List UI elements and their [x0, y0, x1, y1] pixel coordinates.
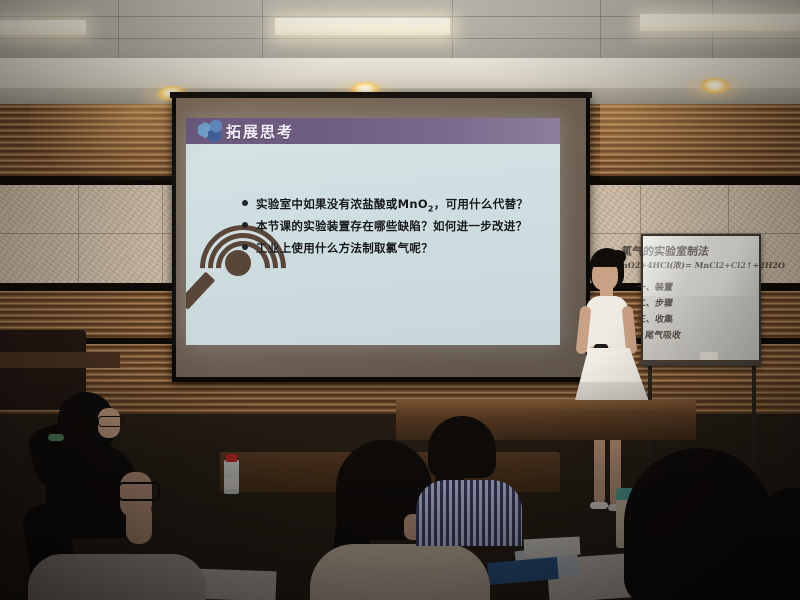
bullet-dot-icon [242, 244, 248, 250]
stone-seam-vertical [162, 185, 163, 285]
magnifier-radar-icon [196, 224, 292, 324]
projected-slide: 拓展思考 实验室中如果没有浓盐酸或MnO2，可用什么代替？ 本节课的实验装置存在… [186, 118, 560, 345]
student-hair [762, 488, 800, 600]
bullet-text-post: ，可用什么代替？ [434, 197, 528, 211]
slide-title: 拓展思考 [226, 121, 294, 142]
ceiling-grid-line [712, 0, 713, 62]
screen-mount-bar [170, 92, 592, 98]
stone-seam-vertical [78, 185, 79, 285]
ceiling-panel-light [640, 14, 800, 31]
glasses-icon [98, 416, 124, 427]
eraser [700, 352, 718, 360]
hair-tie [48, 434, 64, 441]
classroom-photo: 拓展思考 实验室中如果没有浓盐酸或MnO2，可用什么代替？ 本节课的实验装置存在… [0, 0, 800, 600]
warm-light-wash [600, 100, 800, 180]
textbook-white [524, 537, 581, 558]
ceiling-panel-light [275, 18, 450, 35]
teacher-hair-front [590, 255, 618, 267]
ceiling-grid-line [118, 0, 119, 62]
student [762, 488, 800, 600]
slide-bullet: 实验室中如果没有浓盐酸或MnO2，可用什么代替？ [256, 196, 528, 213]
student-shirt [28, 554, 206, 600]
lecture-desk-left [0, 352, 120, 368]
ceiling-grid-line [600, 0, 601, 62]
student [0, 442, 230, 600]
bullet-text-pre: 实验室中如果没有浓盐酸或MnO [256, 197, 428, 211]
student-shirt [310, 544, 490, 600]
slide-bullet: 工业上使用什么方法制取氯气呢？ [256, 240, 433, 256]
ceiling-panel-light [0, 20, 86, 35]
ceiling-grid-line [0, 38, 800, 39]
bullet-dot-icon [242, 222, 248, 228]
bullet-dot-icon [242, 200, 248, 206]
downlight-icon [700, 78, 730, 94]
ceiling-grid-line [452, 0, 453, 62]
student-hand [126, 502, 152, 544]
glasses-icon [118, 482, 160, 501]
slide-bullet: 本节课的实验装置存在哪些缺陷？如何进一步改进？ [256, 218, 527, 234]
bullet-text: 本节课的实验装置存在哪些缺陷？如何进一步改进？ [256, 219, 527, 233]
bullet-text: 工业上使用什么方法制取氯气呢？ [256, 241, 433, 255]
ceiling-grid-line [262, 0, 263, 62]
student [404, 416, 534, 536]
student-hair [624, 448, 774, 600]
student-striped-shirt [416, 480, 522, 546]
